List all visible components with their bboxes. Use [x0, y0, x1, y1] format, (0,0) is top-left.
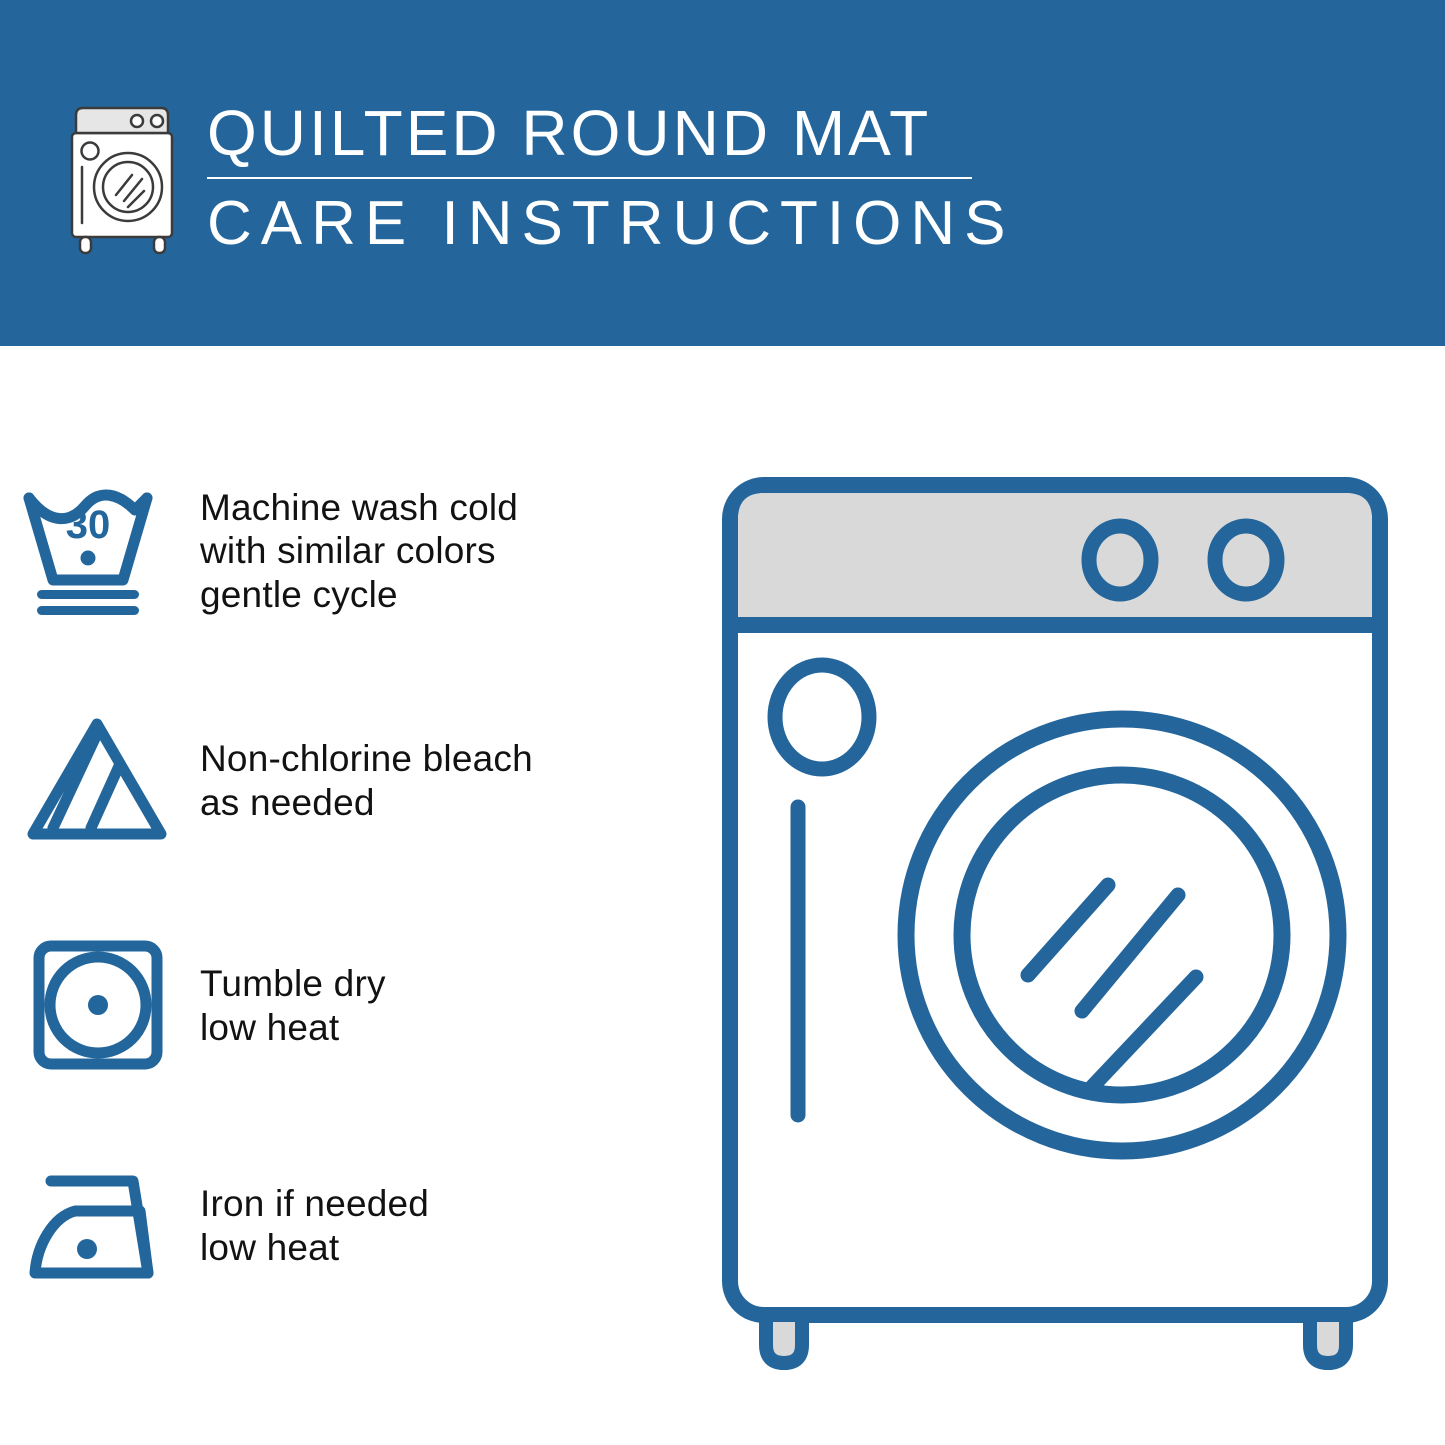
header-banner: QUILTED ROUND MAT CARE INSTRUCTIONS [0, 0, 1445, 346]
header-text-block: QUILTED ROUND MAT CARE INSTRUCTIONS [207, 100, 1007, 256]
care-item-machine-wash: 30 Machine wash cold with similar colors… [0, 476, 700, 626]
leg-right [1310, 1315, 1346, 1363]
leg-left [766, 1315, 802, 1363]
knob-right [1215, 526, 1277, 594]
wash-temperature-value: 30 [66, 503, 111, 547]
care-item-label: Non-chlorine bleach as needed [200, 737, 533, 824]
knob-left [1089, 526, 1151, 594]
care-item-label: Tumble dry low heat [200, 962, 386, 1049]
care-item-iron: Iron if needed low heat [0, 1151, 700, 1301]
bleach-triangle-icon [0, 706, 200, 856]
page-subtitle: CARE INSTRUCTIONS [207, 191, 1007, 256]
care-instruction-list: 30 Machine wash cold with similar colors… [0, 346, 700, 1445]
tumble-dry-icon [0, 931, 200, 1081]
washing-machine-icon [62, 103, 190, 255]
care-item-tumble-dry: Tumble dry low heat [0, 931, 700, 1081]
washing-machine-illustration [710, 455, 1430, 1375]
care-item-label: Iron if needed low heat [200, 1182, 429, 1269]
page-title: QUILTED ROUND MAT [207, 100, 1007, 167]
care-instructions-page: QUILTED ROUND MAT CARE INSTRUCTIONS 30 [0, 0, 1445, 1445]
title-divider [207, 177, 972, 179]
wash-tub-30-icon: 30 [0, 476, 200, 626]
iron-icon [0, 1151, 200, 1301]
care-item-label: Machine wash cold with similar colors ge… [200, 486, 518, 617]
care-item-bleach: Non-chlorine bleach as needed [0, 706, 700, 856]
